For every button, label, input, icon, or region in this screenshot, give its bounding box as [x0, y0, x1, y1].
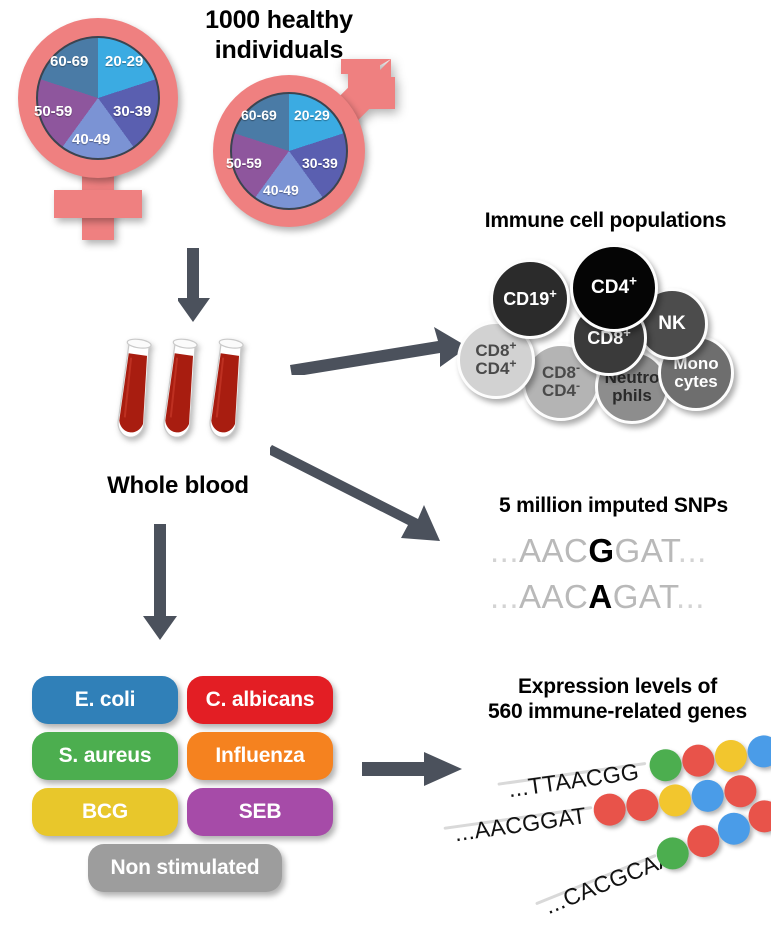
immune-cell-label-line2: CD4-	[542, 382, 580, 400]
immune-heading: Immune cell populations	[450, 209, 761, 234]
male-pie-label-20-29: 20-29	[294, 107, 330, 123]
immune-cell-label-line1: NK	[658, 314, 685, 334]
stimulation-pill-non-stimulated[interactable]: Non stimulated	[88, 844, 282, 892]
snp-after: GAT	[615, 532, 678, 569]
expression-heading-line2: 560 immune-related genes	[470, 700, 765, 725]
snp-before: AAC	[519, 532, 588, 569]
snp-sequence-row: ...AACGGAT...	[490, 532, 707, 570]
immune-cell-label-line2: CD4+	[475, 360, 516, 378]
arrow-blood-to-stimulations	[138, 524, 182, 644]
female-symbol-stem-cross	[54, 190, 142, 218]
snp-variant: G	[588, 532, 614, 569]
snp-before: AAC	[519, 578, 588, 615]
female-pie-label-50-59: 50-59	[34, 103, 72, 120]
arrow-blood-to-immune	[290, 325, 470, 375]
strand-bead	[680, 743, 716, 779]
stimulation-pill-influenza[interactable]: Influenza	[187, 732, 333, 780]
stimulation-pill-e-coli[interactable]: E. coli	[32, 676, 178, 724]
blood-tubes-group	[108, 335, 268, 455]
snp-variant: A	[588, 578, 612, 615]
strand-bead	[713, 738, 749, 774]
female-pie-label-40-49: 40-49	[72, 131, 110, 148]
immune-cells-group: CD8- CD4- CD8+ CD4+ Neutro phils Mono cy…	[455, 243, 755, 423]
blood-tube	[206, 338, 247, 439]
stimulation-pill-seb[interactable]: SEB	[187, 788, 333, 836]
male-pie-label-30-39: 30-39	[302, 155, 338, 171]
stimulation-pill-s-aureus[interactable]: S. aureus	[32, 732, 178, 780]
cohort-title-line1: 1000 healthy	[176, 6, 382, 36]
male-pie-label-40-49: 40-49	[263, 182, 299, 198]
expression-heading: Expression levels of 560 immune-related …	[470, 675, 765, 725]
snp-sequence-row: ...AACAGAT...	[490, 578, 705, 616]
whole-blood-label: Whole blood	[78, 472, 278, 500]
snp-suffix: ...	[676, 578, 705, 615]
male-symbol: 20-29 30-39 40-49 50-59 60-69	[205, 45, 415, 235]
snp-suffix: ...	[678, 532, 707, 569]
snp-heading: 5 million imputed SNPs	[458, 494, 769, 519]
strand-bead	[746, 733, 771, 769]
blood-tube	[160, 338, 201, 439]
snp-sequences-group: ...AACGGAT... ...AACAGAT...	[490, 532, 750, 622]
blood-tube	[114, 338, 155, 439]
strand-bead	[648, 747, 684, 783]
immune-cell-label-line1: CD19+	[503, 290, 557, 309]
female-pie-label-60-69: 60-69	[50, 53, 88, 70]
immune-cell-label-line2: cytes	[673, 373, 718, 391]
female-pie-label-30-39: 30-39	[113, 103, 151, 120]
strand-sequence: ...TTAACGG	[507, 758, 641, 803]
female-pie-label-20-29: 20-29	[105, 53, 143, 70]
snp-prefix: ...	[490, 578, 519, 615]
gene-strands-group: ...TTAACGG ...AACGGAT ...CACGCAA	[440, 740, 771, 915]
stimulation-pill-c-albicans[interactable]: C. albicans	[187, 676, 333, 724]
immune-cell-label-line1: CD8-	[542, 364, 580, 382]
female-symbol: 20-29 30-39 40-49 50-59 60-69	[8, 12, 188, 237]
arrow-blood-to-snp	[270, 445, 470, 545]
immune-cell-cd19pos: CD19+	[490, 259, 570, 339]
male-pie-label-60-69: 60-69	[241, 107, 277, 123]
immune-cell-label-line1: CD4+	[591, 278, 637, 298]
expression-heading-line1: Expression levels of	[470, 675, 765, 700]
snp-prefix: ...	[490, 532, 519, 569]
snp-after: GAT	[613, 578, 676, 615]
male-pie-label-50-59: 50-59	[226, 155, 262, 171]
stimulation-pill-bcg[interactable]: BCG	[32, 788, 178, 836]
immune-cell-label-line2: phils	[605, 387, 660, 405]
arrow-cohort-to-blood	[178, 248, 222, 328]
stimulations-group: E. coli C. albicans S. aureus Influenza …	[32, 676, 342, 896]
immune-cell-cd4pos: CD4+	[570, 244, 658, 332]
